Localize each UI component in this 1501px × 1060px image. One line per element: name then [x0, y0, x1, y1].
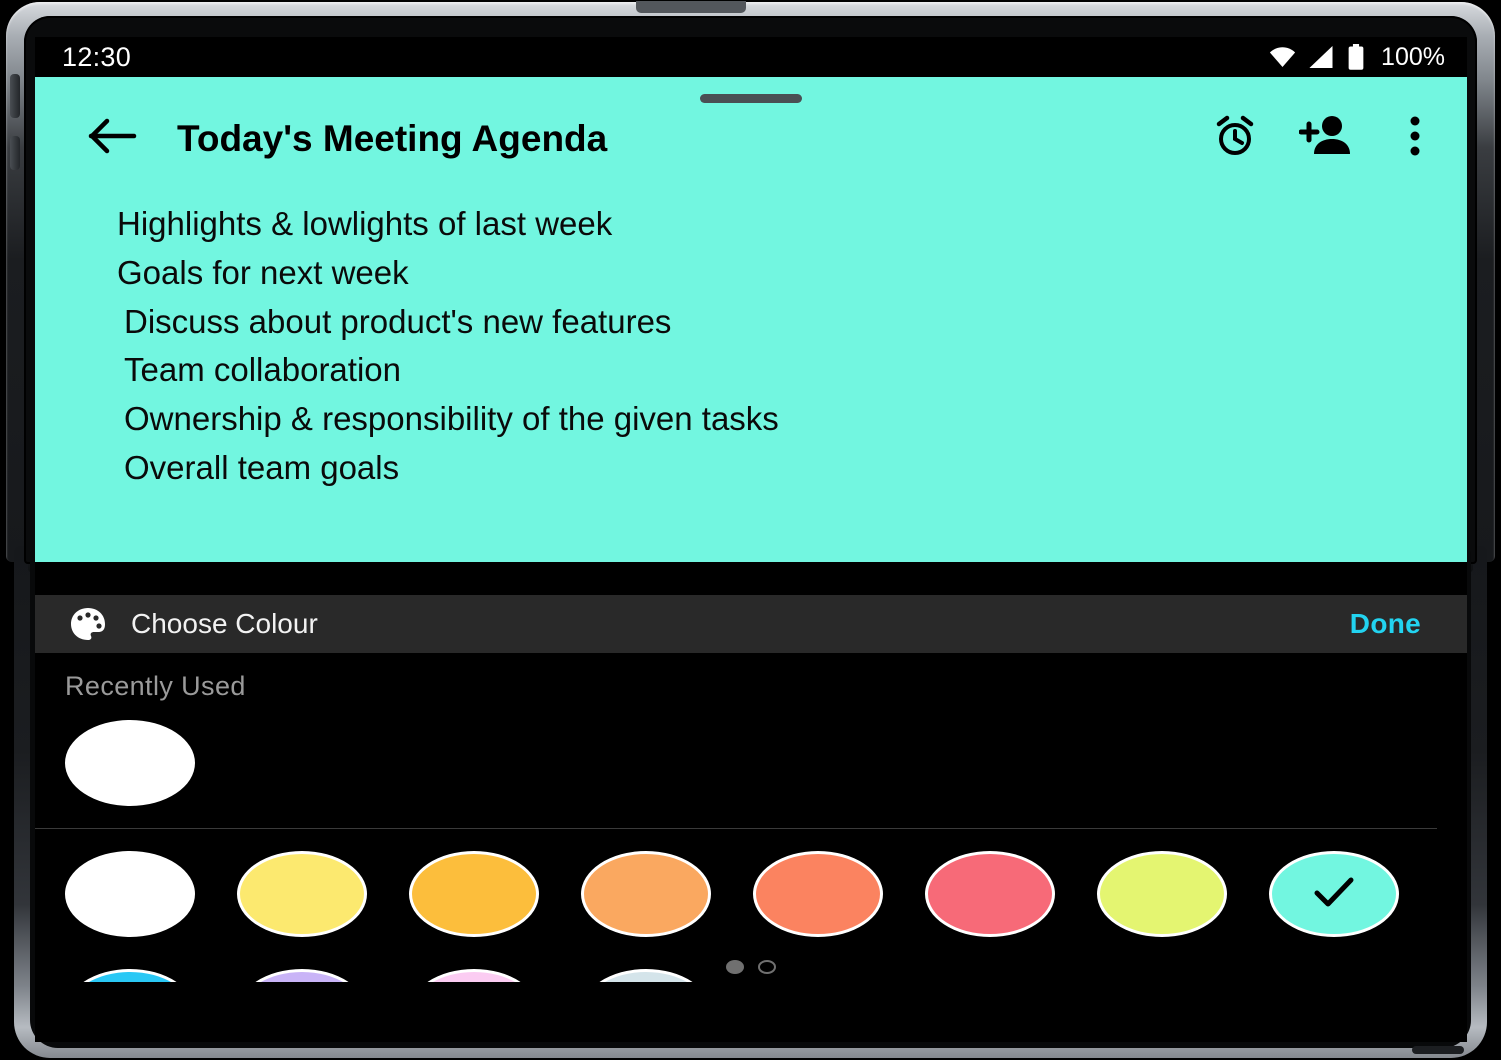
recently-used-swatches [65, 702, 1467, 828]
note-line: Ownership & responsibility of the given … [117, 395, 1467, 444]
add-collaborator-button[interactable] [1301, 115, 1349, 163]
battery-percent-label: 100% [1381, 43, 1445, 72]
recently-used-section: Recently Used [35, 653, 1467, 828]
note-content[interactable]: Highlights & lowlights of last week Goal… [35, 182, 1467, 493]
note-line: Overall team goals [117, 444, 1467, 493]
page-indicator[interactable] [35, 960, 1467, 974]
status-bar-clock: 12:30 [62, 42, 131, 73]
recently-used-label: Recently Used [65, 671, 1467, 702]
app-bar-actions [1211, 115, 1439, 163]
reminder-alarm-button[interactable] [1211, 115, 1259, 163]
status-bar: 12:30 100% [35, 37, 1467, 77]
note-line: Highlights & lowlights of last week [117, 200, 1467, 249]
power-button[interactable] [10, 136, 20, 170]
more-options-button[interactable] [1391, 115, 1439, 163]
swatch-white[interactable] [65, 720, 195, 806]
colour-picker-header: Choose Colour Done [35, 595, 1467, 653]
page-dot-active[interactable] [726, 960, 744, 974]
device-screen: 12:30 100% [35, 37, 1467, 1042]
person-add-icon [1299, 113, 1351, 164]
foldable-device: 12:30 100% [0, 0, 1501, 1060]
bottom-speaker-slit [1412, 1046, 1464, 1054]
volume-button[interactable] [10, 74, 20, 118]
swatch-light-yellow[interactable] [237, 851, 367, 937]
wifi-icon [1269, 47, 1296, 68]
swatch-white[interactable] [65, 851, 195, 937]
page-title: Today's Meeting Agenda [177, 118, 607, 160]
window-drag-handle[interactable] [700, 94, 802, 103]
back-button[interactable] [85, 111, 141, 167]
swatch-turquoise[interactable] [1269, 851, 1399, 937]
note-line: Goals for next week [117, 249, 1467, 298]
done-button[interactable]: Done [1350, 608, 1421, 640]
top-speaker-slit [636, 1, 746, 13]
app-bar: Today's Meeting Agenda [35, 77, 1467, 182]
overflow-menu-icon [1408, 113, 1422, 164]
note-app-surface: Today's Meeting Agenda [35, 77, 1467, 562]
colour-row [65, 851, 1467, 937]
swatch-coral[interactable] [753, 851, 883, 937]
colour-picker-panel: Choose Colour Done Recently Used [35, 595, 1467, 982]
swatch-lime[interactable] [1097, 851, 1227, 937]
page-dot-inactive[interactable] [758, 960, 776, 974]
cellular-signal-icon [1309, 46, 1334, 68]
palette-icon [67, 603, 109, 645]
status-bar-indicators: 100% [1269, 43, 1445, 72]
back-arrow-icon [88, 117, 138, 160]
swatch-light-orange[interactable] [581, 851, 711, 937]
colour-picker-title: Choose Colour [131, 608, 318, 640]
note-line: Discuss about product's new features [117, 298, 1467, 347]
fold-gap [35, 562, 1467, 595]
swatch-pink-red[interactable] [925, 851, 1055, 937]
swatch-amber[interactable] [409, 851, 539, 937]
alarm-clock-icon [1212, 113, 1258, 164]
note-line: Team collaboration [117, 346, 1467, 395]
checkmark-icon [1312, 875, 1356, 914]
battery-icon [1347, 44, 1365, 71]
